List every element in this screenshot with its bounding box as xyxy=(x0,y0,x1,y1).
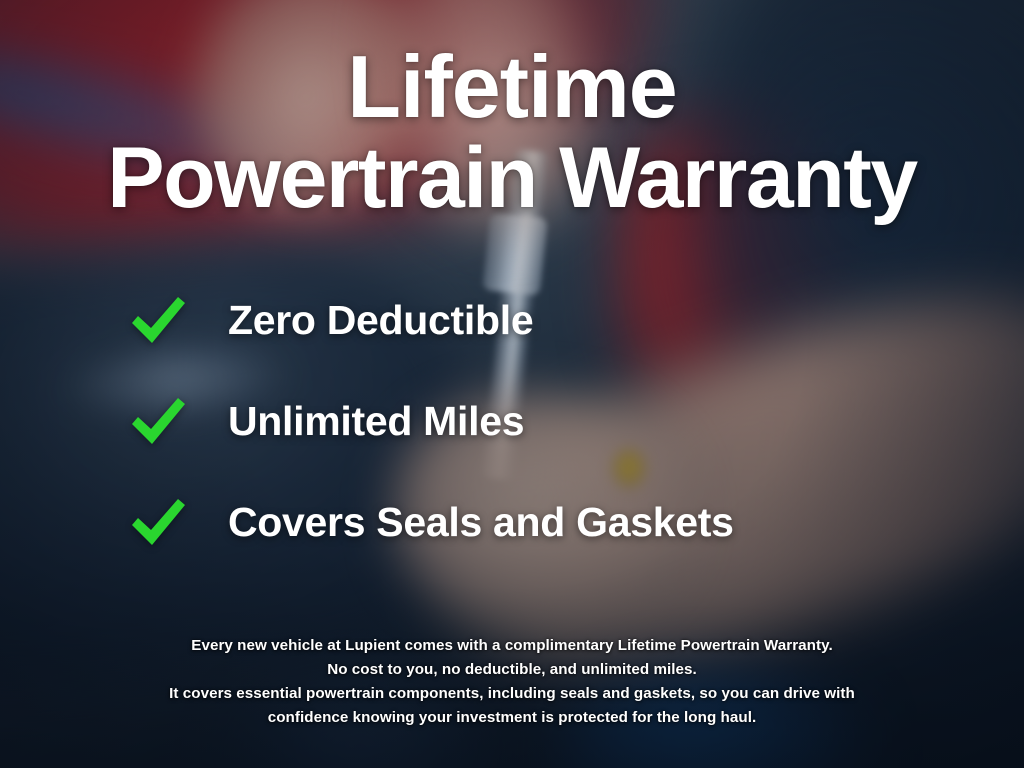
list-item: Unlimited Miles xyxy=(0,389,1024,453)
promo-banner: Lifetime Powertrain Warranty Zero Deduct… xyxy=(0,0,1024,768)
check-icon xyxy=(128,496,194,548)
description-line-2: No cost to you, no deductible, and unlim… xyxy=(0,658,1024,682)
benefit-label: Covers Seals and Gaskets xyxy=(228,499,734,546)
banner-content: Lifetime Powertrain Warranty Zero Deduct… xyxy=(0,0,1024,768)
headline-line-2: Powertrain Warranty xyxy=(0,136,1024,220)
benefit-label: Unlimited Miles xyxy=(228,398,524,445)
headline-line-1: Lifetime xyxy=(0,44,1024,130)
list-item: Covers Seals and Gaskets xyxy=(0,490,1024,554)
description-line-1: Every new vehicle at Lupient comes with … xyxy=(0,634,1024,658)
benefits-list: Zero Deductible Unlimited Miles Covers S… xyxy=(0,288,1024,591)
list-item: Zero Deductible xyxy=(0,288,1024,352)
description-line-3: It covers essential powertrain component… xyxy=(0,682,1024,706)
benefit-label: Zero Deductible xyxy=(228,297,533,344)
description-line-4: confidence knowing your investment is pr… xyxy=(0,706,1024,730)
check-icon xyxy=(128,294,194,346)
check-icon xyxy=(128,395,194,447)
page-title: Lifetime Powertrain Warranty xyxy=(0,44,1024,221)
description-text: Every new vehicle at Lupient comes with … xyxy=(0,634,1024,730)
